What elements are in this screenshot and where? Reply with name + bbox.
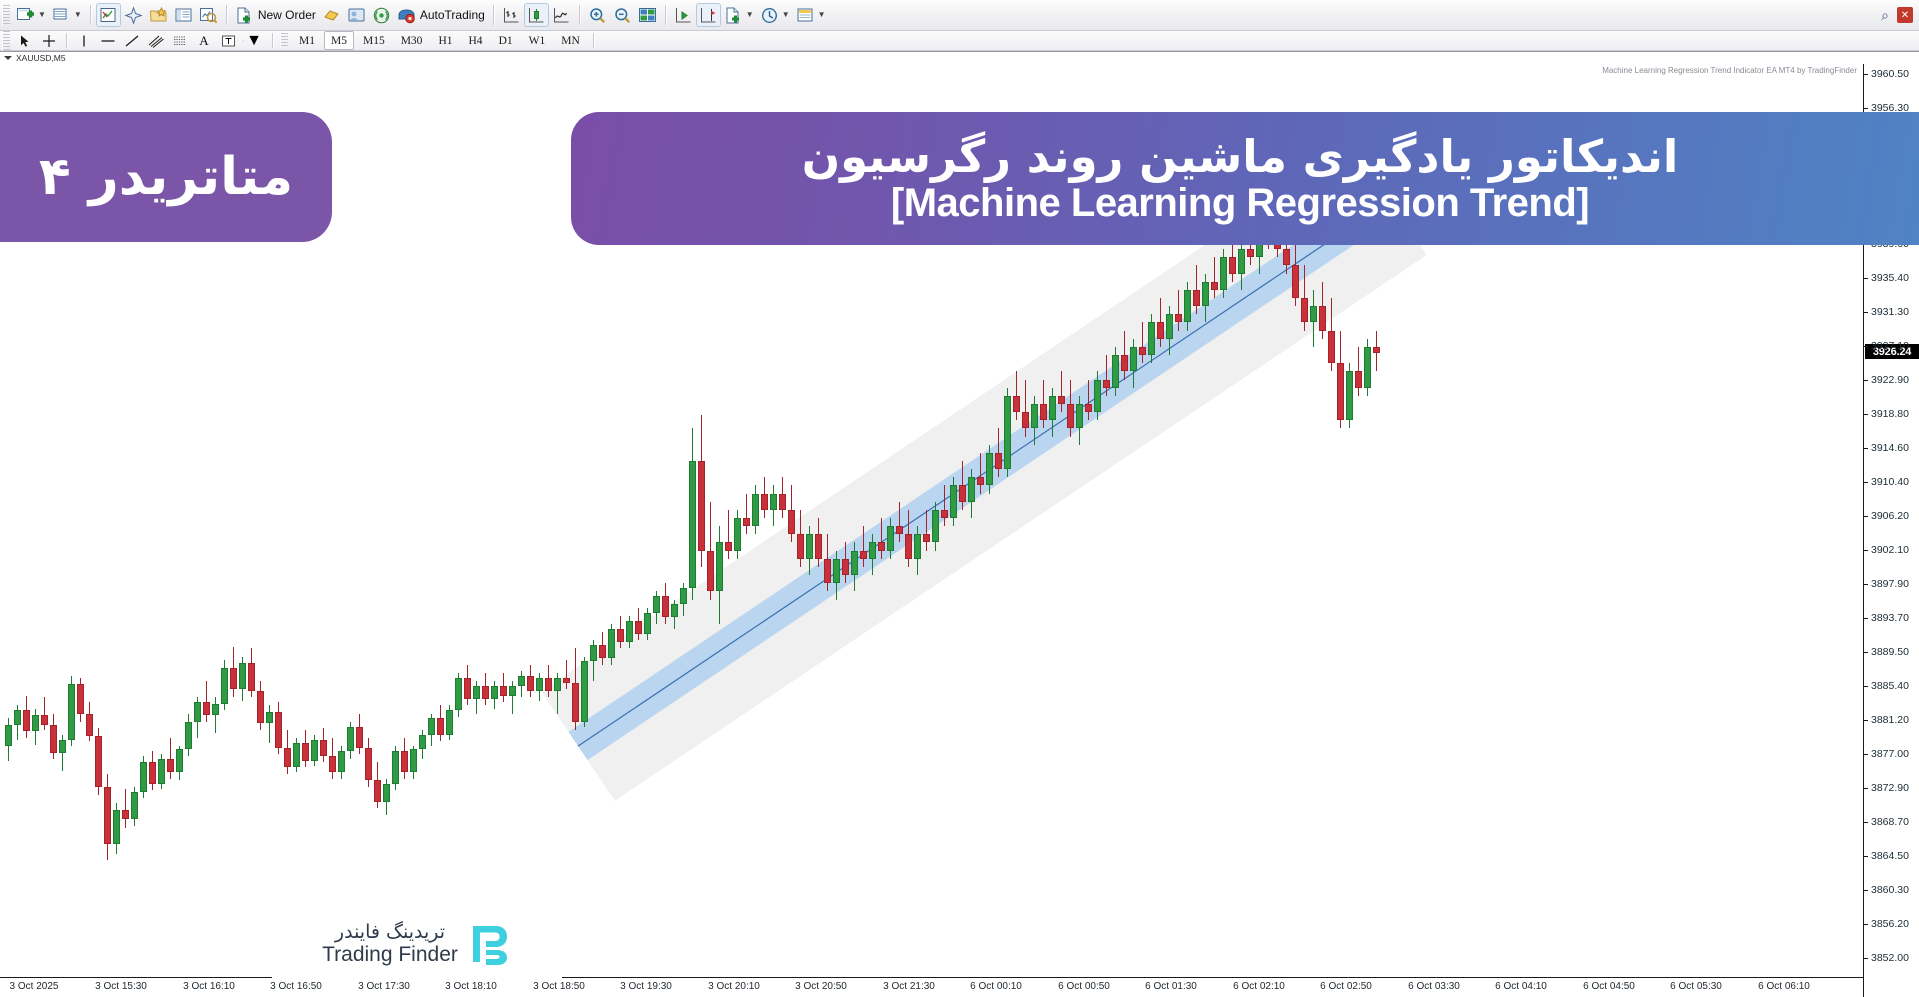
toolbar-grip[interactable] xyxy=(2,5,10,25)
candlestick-icon xyxy=(527,6,546,25)
price-tick: 3868.70 xyxy=(1864,816,1909,828)
price-tick: 3877.00 xyxy=(1864,748,1909,760)
price-tick: 3852.00 xyxy=(1864,952,1909,964)
time-tick-label: 6 Oct 04:50 xyxy=(1583,981,1635,992)
text-label-tool[interactable] xyxy=(217,32,239,50)
market-watch-icon xyxy=(99,6,118,25)
chevron-down-icon[interactable]: ▼ xyxy=(746,11,754,19)
time-axis: 3 Oct 20253 Oct 15:303 Oct 16:103 Oct 16… xyxy=(0,977,1863,997)
profiles-button[interactable]: ▼ xyxy=(49,3,85,27)
strategy-tester-icon xyxy=(199,6,218,25)
trendline-tool[interactable] xyxy=(121,32,143,50)
price-tick: 3902.10 xyxy=(1864,544,1909,556)
crosshair-tool[interactable] xyxy=(38,32,60,50)
main-toolbar: ▼ ▼ xyxy=(0,0,1919,31)
equidistant-channel-tool[interactable] xyxy=(145,32,167,50)
autotrading-icon xyxy=(397,6,416,25)
new-order-button[interactable]: New Order xyxy=(232,3,319,27)
toolbar-grip[interactable] xyxy=(2,31,10,51)
channel-icon xyxy=(148,34,164,48)
toolbar-separator xyxy=(593,33,594,48)
mql-community-button[interactable] xyxy=(344,3,369,27)
bar-chart-icon xyxy=(502,6,521,25)
zoom-out-icon xyxy=(613,6,632,25)
time-tick-label: 6 Oct 02:10 xyxy=(1233,981,1285,992)
profiles-icon xyxy=(52,6,71,25)
chart-shift-icon xyxy=(699,6,718,25)
toolbar-separator xyxy=(272,33,273,48)
horizontal-line-tool[interactable] xyxy=(97,32,119,50)
tile-windows-icon xyxy=(638,6,657,25)
indicator-list-icon xyxy=(724,6,743,25)
chevron-down-icon[interactable]: ▼ xyxy=(246,32,262,50)
toolbar-separator xyxy=(90,5,91,25)
toolbar-separator xyxy=(66,33,67,48)
time-tick-label: 3 Oct 20:50 xyxy=(795,981,847,992)
price-tick: 3922.90 xyxy=(1864,374,1909,386)
price-tick-label: 3881.20 xyxy=(1871,714,1909,726)
new-chart-button[interactable]: ▼ xyxy=(13,3,49,27)
price-tick: 3885.40 xyxy=(1864,680,1909,692)
price-tick: 3931.30 xyxy=(1864,306,1909,318)
signals-button[interactable] xyxy=(369,3,394,27)
timeframe-grip[interactable] xyxy=(280,33,288,48)
logo-label-fa: تریدینگ فایندر xyxy=(335,922,445,943)
time-tick-label: 6 Oct 01:30 xyxy=(1145,981,1197,992)
timeframe-m15[interactable]: M15 xyxy=(356,31,392,50)
price-tick: 3864.50 xyxy=(1864,850,1909,862)
timeframe-group: M1M5M15M30H1H4D1W1MN xyxy=(291,31,588,50)
price-tick: 3897.90 xyxy=(1864,578,1909,590)
tradingfinder-logo: تریدینگ فایندر Trading Finder xyxy=(272,910,562,978)
bar-chart-button[interactable] xyxy=(499,3,524,27)
price-tick-label: 3893.70 xyxy=(1871,612,1909,624)
period-icon xyxy=(760,6,779,25)
toolbar-separator xyxy=(493,5,494,25)
timeframe-w1[interactable]: W1 xyxy=(522,31,553,50)
templates-icon xyxy=(796,6,815,25)
price-tick-label: 3931.30 xyxy=(1871,306,1909,318)
timeframe-mn[interactable]: MN xyxy=(554,31,587,50)
time-tick-label: 6 Oct 03:30 xyxy=(1408,981,1460,992)
tradingfinder-mark-icon xyxy=(466,922,512,966)
search-icon[interactable]: ⌕ xyxy=(1881,7,1889,24)
price-tick-label: 3918.80 xyxy=(1871,408,1909,420)
timeframe-h4[interactable]: H4 xyxy=(462,31,490,50)
logo-label-en: Trading Finder xyxy=(322,943,458,966)
window-controls: ⌕ ✕ xyxy=(1881,7,1919,24)
auto-scroll-button[interactable] xyxy=(671,3,696,27)
time-tick-label: 6 Oct 06:10 xyxy=(1758,981,1810,992)
chevron-down-icon[interactable]: ▼ xyxy=(74,11,82,19)
chart-symbol-label: XAUUSD,M5 xyxy=(16,53,66,63)
mql-community-icon xyxy=(347,6,366,25)
time-tick-label: 3 Oct 20:10 xyxy=(708,981,760,992)
shapes-tool[interactable]: ▼ xyxy=(241,32,263,50)
price-tick-label: 3860.30 xyxy=(1871,884,1909,896)
timeframe-d1[interactable]: D1 xyxy=(492,31,520,50)
data-window-button[interactable] xyxy=(146,3,171,27)
toolbar-separator xyxy=(226,5,227,25)
autotrading-label: AutoTrading xyxy=(420,8,485,22)
time-tick-label: 6 Oct 02:50 xyxy=(1320,981,1372,992)
chevron-down-icon[interactable] xyxy=(4,56,12,60)
horizontal-line-icon xyxy=(100,34,116,48)
close-icon[interactable]: ✕ xyxy=(1897,7,1913,23)
signals-icon xyxy=(372,6,391,25)
chart-window: XAUUSD,M5 Machine Learning Regression Tr… xyxy=(0,51,1919,996)
time-tick-label: 3 Oct 19:30 xyxy=(620,981,672,992)
title-banner: اندیکاتور یادگیری ماشین روند رگرسیون [Ma… xyxy=(571,112,1919,245)
time-tick-label: 6 Oct 04:10 xyxy=(1495,981,1547,992)
terminal-icon xyxy=(174,6,193,25)
timeframe-m5[interactable]: M5 xyxy=(324,31,354,50)
text-icon: A xyxy=(199,33,208,49)
price-tick: 3960.50 xyxy=(1864,68,1909,80)
price-tick: 3881.20 xyxy=(1864,714,1909,726)
price-tick-label: 3922.90 xyxy=(1871,374,1909,386)
price-tick: 3914.60 xyxy=(1864,442,1909,454)
time-tick-label: 3 Oct 18:10 xyxy=(445,981,497,992)
price-tick-label: 3902.10 xyxy=(1871,544,1909,556)
time-tick-label: 6 Oct 00:10 xyxy=(970,981,1022,992)
metatrader-badge-label: متاتریدر ۴ xyxy=(39,151,293,203)
tile-windows-button[interactable] xyxy=(635,3,660,27)
price-tick-label: 3889.50 xyxy=(1871,646,1909,658)
line-chart-button[interactable] xyxy=(549,3,574,27)
shapes-icon xyxy=(242,34,244,48)
price-tick: 3856.20 xyxy=(1864,918,1909,930)
chart-titlebar[interactable]: XAUUSD,M5 xyxy=(0,52,1919,64)
chevron-down-icon[interactable]: ▼ xyxy=(782,11,790,19)
time-tick-label: 3 Oct 17:30 xyxy=(358,981,410,992)
price-tick-label: 3872.90 xyxy=(1871,782,1909,794)
price-tick-label: 3906.20 xyxy=(1871,510,1909,522)
vertical-line-tool[interactable] xyxy=(73,32,95,50)
time-tick-label: 3 Oct 21:30 xyxy=(883,981,935,992)
vertical-line-icon xyxy=(77,34,91,48)
market-watch-button[interactable] xyxy=(96,3,121,27)
indicators-list-button[interactable]: ▼ xyxy=(721,3,757,27)
time-tick-label: 6 Oct 00:50 xyxy=(1058,981,1110,992)
price-tick-label: 3856.20 xyxy=(1871,918,1909,930)
crosshair-icon xyxy=(42,34,56,48)
navigator-icon xyxy=(124,6,143,25)
timeframe-h1[interactable]: H1 xyxy=(431,31,459,50)
templates-button[interactable]: ▼ xyxy=(793,3,829,27)
zoom-in-icon xyxy=(588,6,607,25)
time-tick-label: 3 Oct 16:50 xyxy=(270,981,322,992)
data-window-icon xyxy=(149,6,168,25)
toolbar-separator xyxy=(579,5,580,25)
cursor-tool[interactable] xyxy=(14,32,36,50)
price-tick: 3906.20 xyxy=(1864,510,1909,522)
new-order-label: New Order xyxy=(258,8,316,22)
price-tick-label: 3877.00 xyxy=(1871,748,1909,760)
price-tick-label: 3910.40 xyxy=(1871,476,1909,488)
fibonacci-tool[interactable] xyxy=(169,32,191,50)
price-tick: 3918.80 xyxy=(1864,408,1909,420)
time-tick-label: 3 Oct 15:30 xyxy=(95,981,147,992)
zoom-in-button[interactable] xyxy=(585,3,610,27)
indicators-icon xyxy=(322,6,341,25)
price-tick: 3872.90 xyxy=(1864,782,1909,794)
text-tool[interactable]: A xyxy=(193,32,215,50)
price-tick: 3910.40 xyxy=(1864,476,1909,488)
fibonacci-icon xyxy=(172,34,188,48)
logo-text: تریدینگ فایندر Trading Finder xyxy=(322,922,458,966)
price-tick-label: 3935.40 xyxy=(1871,272,1909,284)
toolbar-separator xyxy=(665,5,666,25)
auto-scroll-icon xyxy=(674,6,693,25)
autotrading-button[interactable]: AutoTrading xyxy=(394,3,488,27)
candlestick-chart-button[interactable] xyxy=(524,3,549,27)
price-tick-label: 3897.90 xyxy=(1871,578,1909,590)
chevron-down-icon[interactable]: ▼ xyxy=(38,11,46,19)
chevron-down-icon[interactable]: ▼ xyxy=(818,11,826,19)
zoom-out-button[interactable] xyxy=(610,3,635,27)
line-studies-toolbar: A ▼ M1M5M15M30H1H4D1W1MN xyxy=(0,31,1919,51)
price-tick: 3927.10 xyxy=(1864,340,1909,352)
arrow-cursor-icon xyxy=(18,34,32,48)
navigator-button[interactable] xyxy=(121,3,146,27)
time-tick-label: 3 Oct 2025 xyxy=(10,981,59,992)
chart-shift-button[interactable] xyxy=(696,3,721,27)
price-tick: 3860.30 xyxy=(1864,884,1909,896)
price-tick-label: 3914.60 xyxy=(1871,442,1909,454)
line-chart-icon xyxy=(552,6,571,25)
price-tick-label: 3864.50 xyxy=(1871,850,1909,862)
terminal-button[interactable] xyxy=(171,3,196,27)
price-tick-label: 3927.10 xyxy=(1871,340,1909,352)
new-order-icon xyxy=(235,6,254,25)
title-banner-fa: اندیکاتور یادگیری ماشین روند رگرسیون xyxy=(802,133,1679,180)
timeframe-m30[interactable]: M30 xyxy=(394,31,430,50)
price-tick: 3935.40 xyxy=(1864,272,1909,284)
price-tick-label: 3960.50 xyxy=(1871,68,1909,80)
price-tick-label: 3852.00 xyxy=(1871,952,1909,964)
time-tick-label: 3 Oct 16:10 xyxy=(183,981,235,992)
strategy-tester-button[interactable] xyxy=(196,3,221,27)
price-tick-label: 3885.40 xyxy=(1871,680,1909,692)
trendline-icon xyxy=(124,34,140,48)
indicators-button[interactable] xyxy=(319,3,344,27)
period-button[interactable]: ▼ xyxy=(757,3,793,27)
text-label-icon xyxy=(221,34,236,48)
price-tick: 3893.70 xyxy=(1864,612,1909,624)
price-tick-label: 3868.70 xyxy=(1871,816,1909,828)
title-banner-en: [Machine Learning Regression Trend] xyxy=(891,182,1589,224)
time-tick-label: 3 Oct 18:50 xyxy=(533,981,585,992)
timeframe-m1[interactable]: M1 xyxy=(292,31,322,50)
time-tick-label: 6 Oct 05:30 xyxy=(1670,981,1722,992)
price-tick: 3889.50 xyxy=(1864,646,1909,658)
new-chart-icon xyxy=(16,6,35,25)
metatrader-badge: متاتریدر ۴ xyxy=(0,112,332,242)
